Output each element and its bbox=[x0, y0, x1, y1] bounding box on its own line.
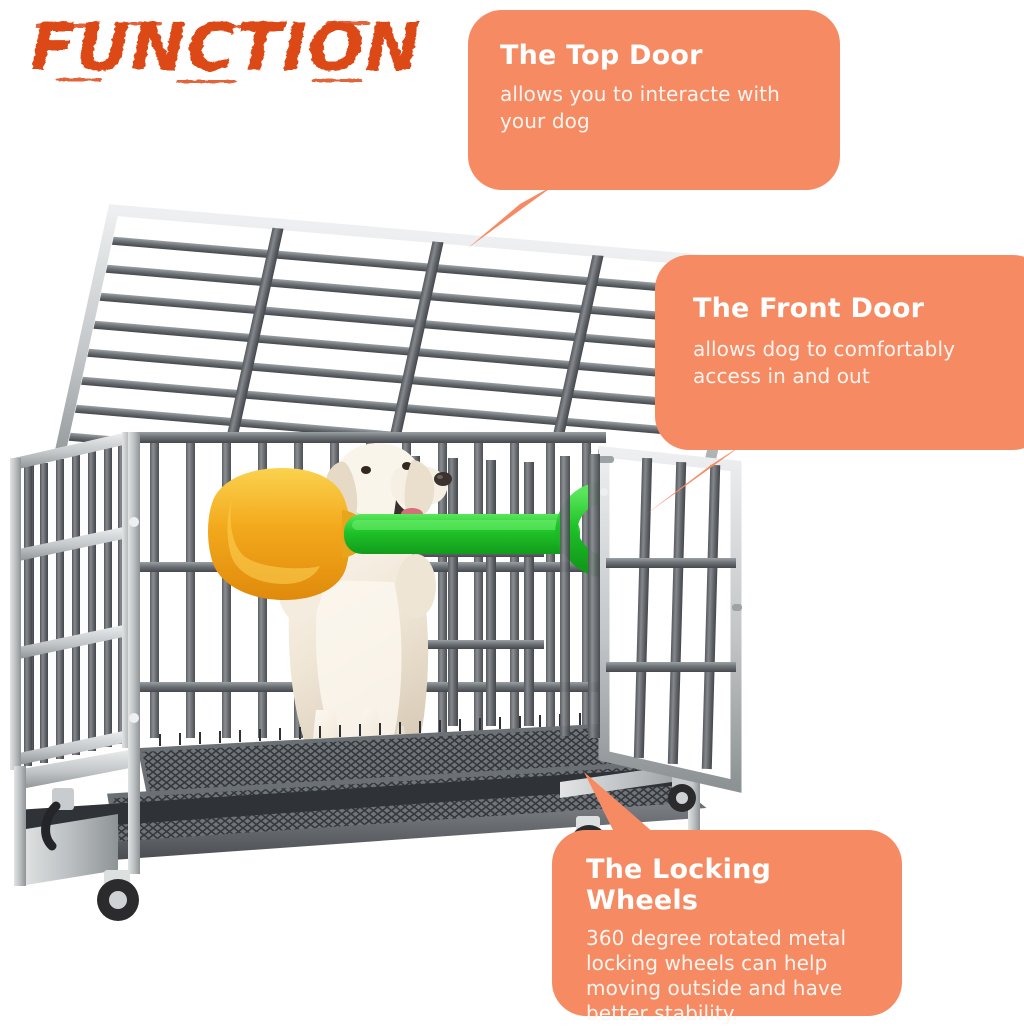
callout-heading: The Top Door bbox=[500, 40, 814, 71]
page-title: FUNCTION bbox=[26, 8, 426, 88]
callout-body: 360 degree rotated metal locking wheels … bbox=[586, 926, 884, 1026]
front-left-panel bbox=[128, 432, 140, 748]
callout-top-door: The Top Door allows you to interacte wit… bbox=[468, 10, 840, 190]
callout-heading: The Locking Wheels bbox=[586, 854, 884, 916]
page-title-text: FUNCTION bbox=[30, 9, 421, 86]
callout-content: The Locking Wheels 360 degree rotated me… bbox=[552, 830, 902, 1016]
infographic-canvas: FUNCTION bbox=[0, 0, 1024, 1024]
callout-front-door: The Front Door allows dog to comfortably… bbox=[655, 255, 1024, 450]
callout-content: The Front Door allows dog to comfortably… bbox=[655, 255, 1024, 450]
callout-heading: The Front Door bbox=[693, 293, 1021, 324]
callout-locking-wheels: The Locking Wheels 360 degree rotated me… bbox=[552, 830, 902, 1016]
callout-content: The Top Door allows you to interacte wit… bbox=[468, 10, 840, 190]
caster-wheel-front-left bbox=[97, 870, 139, 921]
callout-body: allows you to interacte with your dog bbox=[500, 81, 814, 135]
callout-body: allows dog to comfortably access in and … bbox=[693, 336, 1021, 390]
left-side-panel bbox=[10, 432, 133, 770]
